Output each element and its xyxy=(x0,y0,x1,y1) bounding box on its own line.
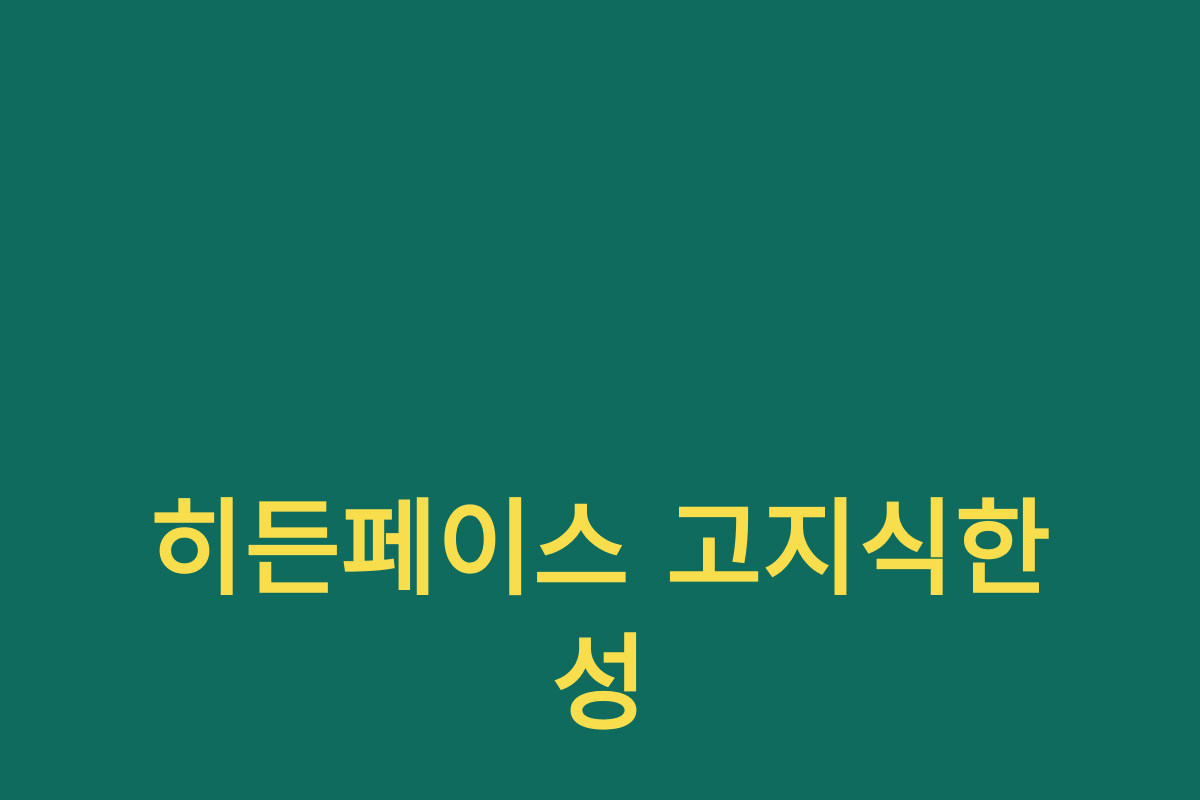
headline-text: 히든페이스 고지식한 성 격 가진 사람을 대하는 영화 속 대처법 xyxy=(84,212,1116,800)
headline-line-1: 히든페이스 고지식한 성 xyxy=(84,482,1116,752)
headline-block: 히든페이스 고지식한 성 격 가진 사람을 대하는 영화 속 대처법 xyxy=(0,212,1200,800)
thumbnail-canvas: 히든페이스 고지식한 성 격 가진 사람을 대하는 영화 속 대처법 xyxy=(0,0,1200,800)
